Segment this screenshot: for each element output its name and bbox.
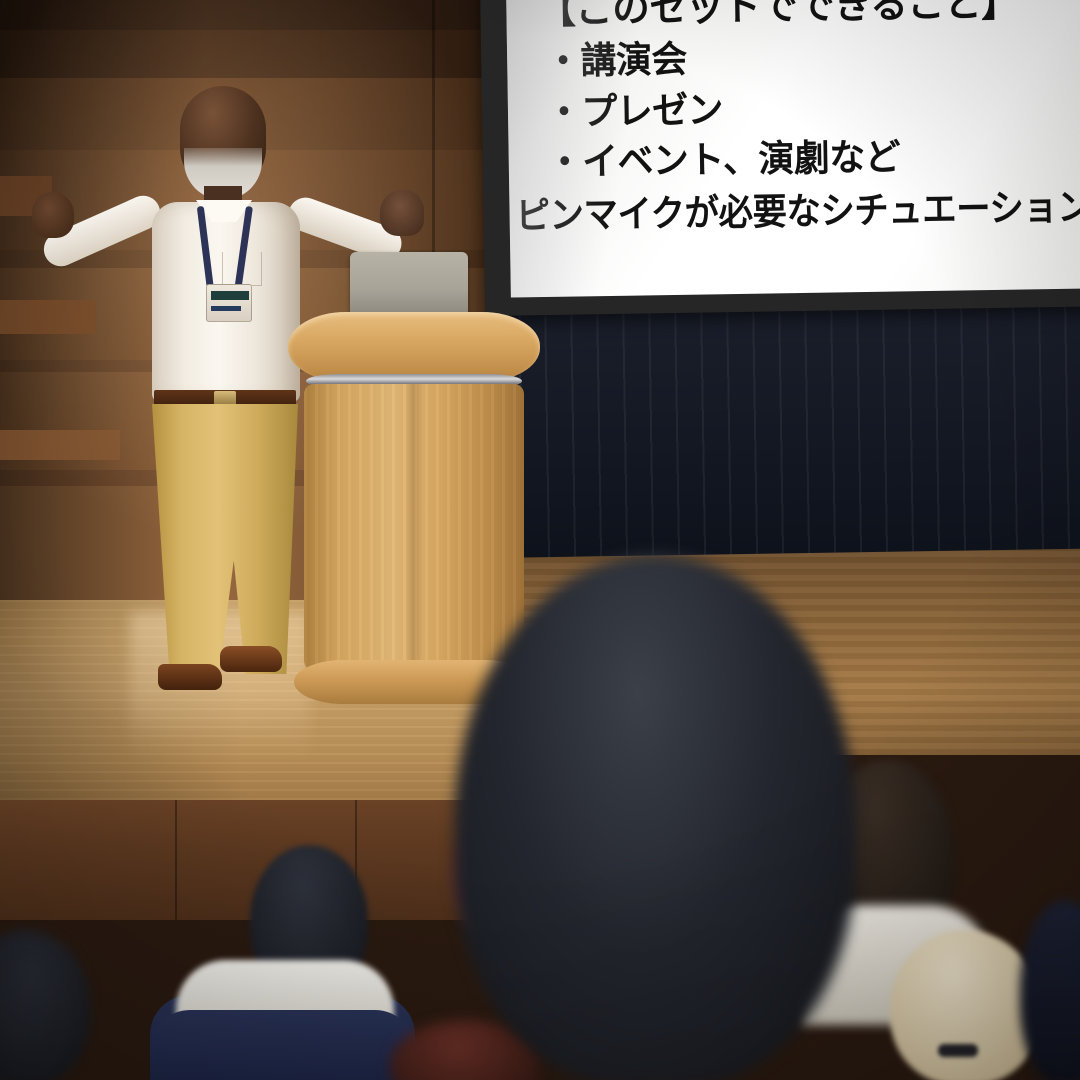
audience-head-far-left (0, 930, 90, 1080)
slide-bullet-3: ・イベント、演劇など (546, 136, 1080, 183)
speaker-shoe-right (220, 646, 282, 672)
projection-screen: 【このセットでできること】 ・講演会 ・プレゼン ・イベント、演劇など ピンマイ… (506, 0, 1080, 298)
speaker-left-hand (32, 192, 74, 238)
stage-curtain (492, 291, 1080, 558)
slide-title: 【このセットでできること】 (538, 0, 1076, 31)
slide-bullet-1: ・講演会 (545, 34, 1080, 81)
podium-top-surface (288, 312, 540, 382)
laptop (350, 252, 468, 314)
fascia-seam (175, 800, 177, 920)
slide-content: 【このセットでできること】 ・講演会 ・プレゼン ・イベント、演劇など ピンマイ… (544, 0, 1080, 236)
badge-header-bar (211, 291, 249, 300)
podium (288, 312, 540, 702)
wall-panel-block-low (0, 430, 120, 460)
speaker-right-hand (380, 190, 424, 236)
slide-footer-line: ピンマイクが必要なシチュエーション (515, 189, 1061, 236)
wall-panel-block-mid (0, 300, 96, 334)
audience-head-blonde (890, 930, 1040, 1080)
podium-body (304, 384, 524, 674)
name-badge (206, 284, 252, 322)
badge-text-bar (211, 306, 241, 311)
speaker-trousers (152, 404, 298, 674)
audience-chair (150, 1010, 415, 1080)
slide-bullet-2: ・プレゼン (546, 85, 1080, 132)
speaker-shoe-left (158, 664, 222, 690)
projection-screen-frame: 【このセットでできること】 ・講演会 ・プレゼン ・イベント、演劇など ピンマイ… (480, 0, 1080, 316)
conference-scene: 【このセットでできること】 ・講演会 ・プレゼン ・イベント、演劇など ピンマイ… (0, 0, 1080, 1080)
foreground-audience-head (455, 555, 855, 1080)
audience-head-far-right (1020, 900, 1080, 1080)
hair-tie (938, 1044, 978, 1057)
